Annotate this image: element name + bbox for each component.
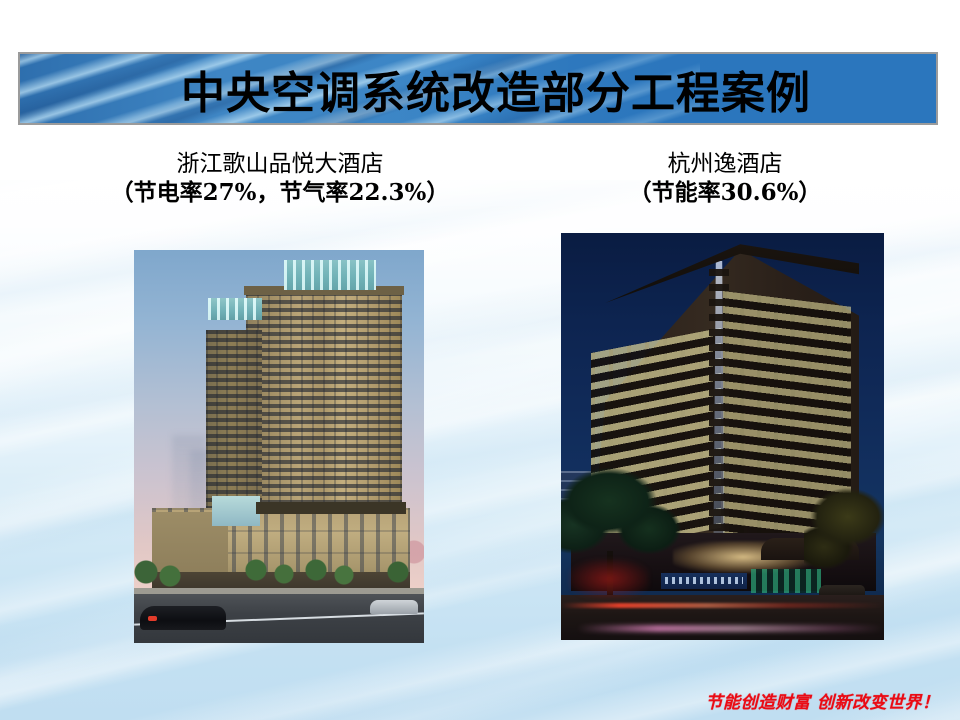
photo-left-canopy bbox=[256, 502, 406, 514]
case-left-photo bbox=[134, 250, 424, 643]
footer-slogan: 节能创造财富 创新改变世界！ bbox=[690, 688, 955, 713]
title-banner: 中央空调系统改造部分工程案例 bbox=[18, 52, 938, 125]
case-left-name: 浙江歌山品悦大酒店 bbox=[60, 152, 500, 178]
photo-right-corner-spine-mask bbox=[709, 261, 729, 551]
photo-right-red-ambient-glow bbox=[569, 559, 649, 599]
case-right-photo bbox=[561, 233, 884, 640]
photo-left-entry-glass bbox=[212, 496, 260, 526]
photo-right-hotel-signboard bbox=[661, 573, 747, 589]
photo-left-car-taillight bbox=[148, 616, 157, 621]
photo-left-tower-windows bbox=[246, 292, 402, 522]
photo-right-red-light-trail bbox=[561, 603, 884, 608]
photo-left-crown-fins-main bbox=[284, 260, 376, 290]
photo-left-crown-fins-wing bbox=[208, 298, 262, 320]
case-caption-right: 杭州逸酒店 （节能率30.6%） bbox=[565, 152, 885, 206]
case-right-name: 杭州逸酒店 bbox=[565, 152, 885, 178]
background-top-fade bbox=[0, 0, 960, 250]
case-right-metrics: （节能率30.6%） bbox=[565, 180, 885, 206]
photo-left-glass-crown-main bbox=[284, 260, 376, 290]
case-left-metrics: （节电率27%，节气率22.3%） bbox=[60, 180, 500, 206]
photo-right-lit-hedge bbox=[751, 569, 821, 593]
photo-right-signboard-lettering bbox=[665, 577, 743, 584]
page-title: 中央空调系统改造部分工程案例 bbox=[20, 54, 936, 123]
case-caption-left: 浙江歌山品悦大酒店 （节电率27%，节气率22.3%） bbox=[60, 152, 500, 206]
photo-right-road bbox=[561, 595, 884, 640]
slide-canvas: 中央空调系统改造部分工程案例 浙江歌山品悦大酒店 （节电率27%，节气率22.3… bbox=[0, 0, 960, 720]
photo-right-pink-light-trail bbox=[561, 625, 884, 632]
photo-left-glass-crown-wing bbox=[208, 298, 262, 320]
photo-left-main-tower bbox=[246, 292, 402, 522]
photo-left-white-car bbox=[370, 600, 418, 614]
